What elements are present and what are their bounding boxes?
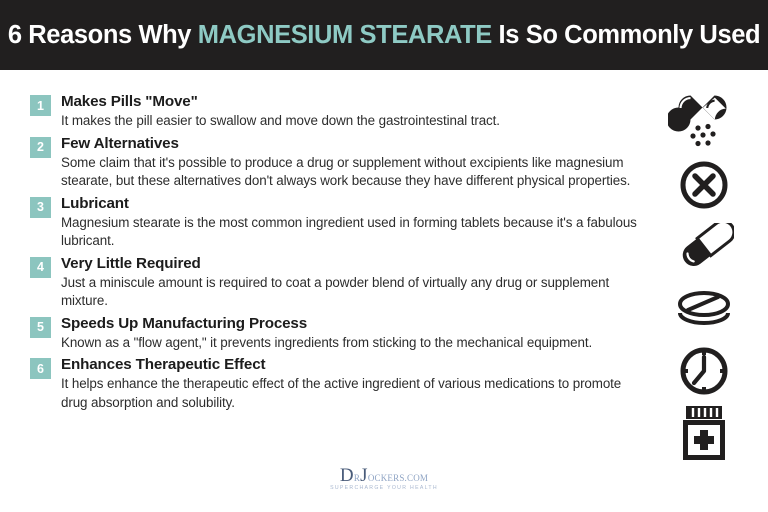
list-item: 1 Makes Pills "Move" It makes the pill e… [30,92,640,131]
reason-description: Known as a "flow agent," it prevents ing… [61,334,640,353]
reason-description: Just a miniscule amount is required to c… [61,274,640,311]
list-item: 4 Very Little Required Just a miniscule … [30,254,640,311]
logo-wordmark: DRJOCKERS.COM [340,466,428,485]
page-title-prefix: 6 Reasons Why [8,21,198,49]
page-title: 6 Reasons Why MAGNESIUM STEARATE Is So C… [8,21,760,50]
reason-description: It helps enhance the therapeutic effect … [61,375,640,412]
reason-title: Very Little Required [61,254,640,273]
reason-title: Few Alternatives [61,134,640,153]
reason-text-block: Speeds Up Manufacturing Process Known as… [61,314,640,353]
reasons-list: 1 Makes Pills "Move" It makes the pill e… [0,70,640,512]
icons-column [640,70,768,512]
reason-text-block: Enhances Therapeutic Effect It helps enh… [61,355,640,412]
circle-x-icon [640,154,768,216]
reason-number-badge: 4 [30,257,51,278]
reason-text-block: Lubricant Magnesium stearate is the most… [61,194,640,251]
medicine-bottle-icon [640,402,768,464]
reason-text-block: Few Alternatives Some claim that it's po… [61,134,640,191]
tablet-stack-icon [640,278,768,340]
logo-d: D [340,465,354,486]
logo-j: J [360,465,368,486]
reason-text-block: Makes Pills "Move" It makes the pill eas… [61,92,640,131]
capsule-spilling-powder-icon [640,92,768,154]
reason-number-badge: 1 [30,95,51,116]
logo-ockers: OCKERS [368,473,405,483]
site-logo: DRJOCKERS.COM SUPERCHARGE YOUR HEALTH [0,466,768,491]
reason-number-badge: 5 [30,317,51,338]
page-title-highlight: MAGNESIUM STEARATE [198,21,492,49]
reason-number-badge: 6 [30,358,51,379]
list-item: 5 Speeds Up Manufacturing Process Known … [30,314,640,353]
reason-number-badge: 2 [30,137,51,158]
list-item: 2 Few Alternatives Some claim that it's … [30,134,640,191]
reason-title: Makes Pills "Move" [61,92,640,111]
reason-description: Magnesium stearate is the most common in… [61,214,640,251]
list-item: 6 Enhances Therapeutic Effect It helps e… [30,355,640,412]
reason-description: It makes the pill easier to swallow and … [61,112,640,131]
header-bar: 6 Reasons Why MAGNESIUM STEARATE Is So C… [0,0,768,70]
reason-number-badge: 3 [30,197,51,218]
reason-title: Lubricant [61,194,640,213]
reason-description: Some claim that it's possible to produce… [61,154,640,191]
content-area: 1 Makes Pills "Move" It makes the pill e… [0,70,768,512]
reason-title: Speeds Up Manufacturing Process [61,314,640,333]
page-title-suffix: Is So Commonly Used [492,21,760,49]
capsule-pill-icon [640,216,768,278]
clock-icon [640,340,768,402]
logo-suffix: .COM [405,473,429,483]
logo-tagline: SUPERCHARGE YOUR HEALTH [0,486,768,491]
list-item: 3 Lubricant Magnesium stearate is the mo… [30,194,640,251]
reason-text-block: Very Little Required Just a miniscule am… [61,254,640,311]
reason-title: Enhances Therapeutic Effect [61,355,640,374]
